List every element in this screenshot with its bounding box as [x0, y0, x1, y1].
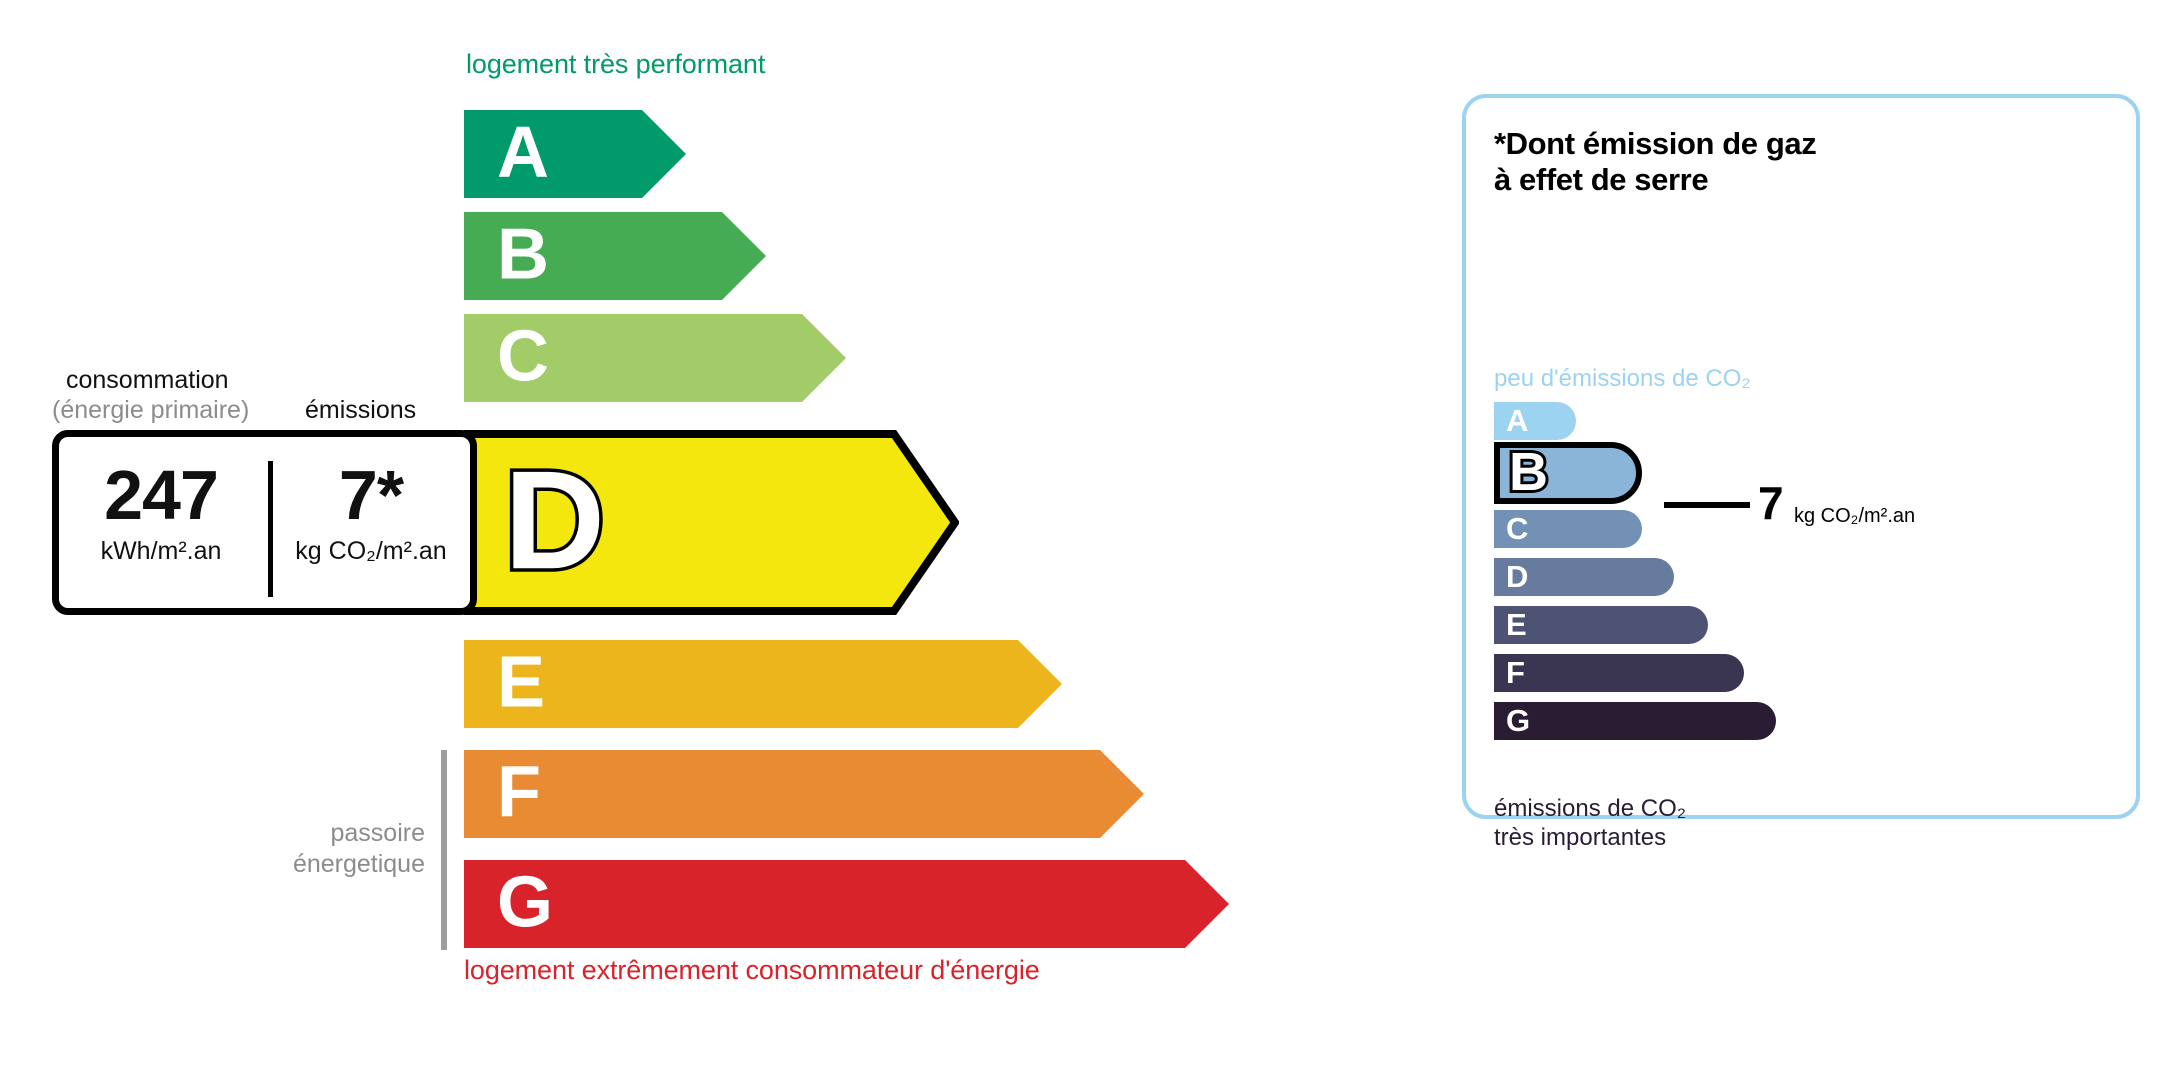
consumption-unit: kWh/m².an — [61, 537, 261, 566]
value-box: 247 kWh/m².an 7* kg CO₂/m².an — [52, 430, 477, 615]
scale-bottom-caption: logement extrêmement consommateur d'éner… — [464, 955, 1040, 986]
co2-class-row-f[interactable]: F — [1494, 654, 1744, 692]
emission-value: 7* — [271, 459, 471, 533]
co2-panel-title: *Dont émission de gaz à effet de serre — [1494, 126, 1816, 198]
co2-emission-panel: *Dont émission de gaz à effet de serre p… — [1462, 94, 2140, 819]
co2-class-letter-a: A — [1506, 405, 1528, 436]
co2-class-row-g[interactable]: G — [1494, 702, 1776, 740]
consumption-value: 247 — [61, 459, 261, 533]
co2-class-letter-e: E — [1506, 609, 1527, 640]
energy-performance-scale: logement très performant A B C D E — [0, 0, 1330, 1079]
energie-primaire-label: (énergie primaire) — [52, 396, 249, 425]
arrow-shape-f-icon — [464, 750, 1144, 838]
co2-bar-g — [1494, 702, 1776, 740]
energy-class-row-e[interactable]: E — [464, 640, 1062, 728]
co2-class-letter-f: F — [1506, 657, 1525, 688]
passoire-energetique-label: passoire énergetique — [210, 818, 425, 881]
arrow-shape-d-icon — [464, 430, 959, 615]
co2-leader-line — [1664, 502, 1750, 508]
co2-bar-f — [1494, 654, 1744, 692]
co2-class-letter-c: C — [1506, 513, 1528, 544]
energy-class-row-a[interactable]: A — [464, 110, 686, 198]
consumption-value-cell: 247 kWh/m².an — [61, 459, 261, 566]
co2-value: 7 — [1758, 480, 1784, 526]
arrow-shape-e-icon — [464, 640, 1062, 728]
co2-class-letter-g: G — [1506, 705, 1530, 736]
scale-top-caption: logement très performant — [466, 49, 765, 80]
energy-class-row-f[interactable]: F — [464, 750, 1144, 838]
arrow-shape-c-icon — [464, 314, 846, 402]
co2-class-row-d[interactable]: D — [1494, 558, 1674, 596]
co2-class-row-e[interactable]: E — [1494, 606, 1708, 644]
co2-bottom-caption: émissions de CO₂ très importantes — [1494, 795, 1686, 853]
emission-unit: kg CO₂/m².an — [271, 537, 471, 566]
co2-class-row-c[interactable]: C — [1494, 510, 1642, 548]
co2-class-row-a[interactable]: A — [1494, 402, 1576, 440]
arrow-shape-a-icon — [464, 110, 686, 198]
emissions-label: émissions — [305, 396, 416, 425]
co2-class-letter-b: B — [1509, 445, 1548, 499]
energy-class-row-c[interactable]: C — [464, 314, 846, 402]
energy-class-row-b[interactable]: B — [464, 212, 766, 300]
co2-top-caption: peu d'émissions de CO₂ — [1494, 365, 1751, 393]
energy-class-row-d-selected[interactable]: D — [464, 430, 959, 615]
energy-class-row-g[interactable]: G — [464, 860, 1229, 948]
co2-class-letter-d: D — [1506, 561, 1528, 592]
passoire-energetique-marker — [441, 750, 447, 950]
emission-value-cell: 7* kg CO₂/m².an — [271, 459, 471, 566]
consommation-label: consommation — [66, 366, 229, 395]
arrow-shape-g-icon — [464, 860, 1229, 948]
arrow-shape-b-icon — [464, 212, 766, 300]
co2-value-unit: kg CO₂/m².an — [1794, 506, 1915, 526]
co2-class-row-b-selected[interactable]: B — [1494, 442, 1642, 504]
